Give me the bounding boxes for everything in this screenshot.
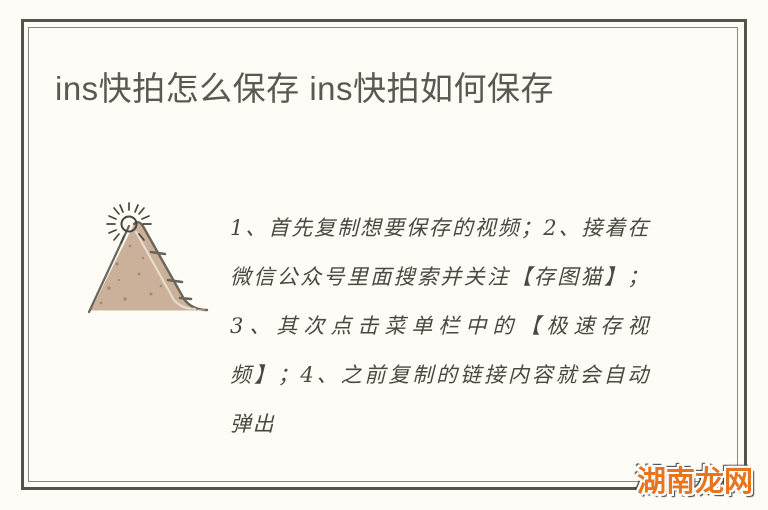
content-area: 1、首先复制想要保存的视频；2、接着在微信公众号里面搜索并关注【存图猫】；3、其…	[55, 198, 695, 448]
page-root: ins快拍怎么保存 ins快拍如何保存	[0, 0, 768, 510]
watermark-label: 湖南龙网	[637, 466, 753, 498]
article-body-text: 1、首先复制想要保存的视频；2、接着在微信公众号里面搜索并关注【存图猫】；3、其…	[230, 204, 650, 449]
sand-dune-with-sun-icon	[55, 202, 215, 322]
page-title: ins快拍怎么保存 ins快拍如何保存	[55, 66, 675, 112]
